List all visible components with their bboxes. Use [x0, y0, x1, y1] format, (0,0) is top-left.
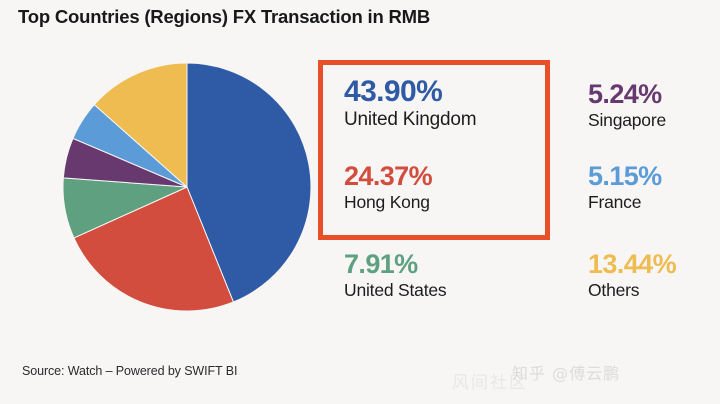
stat-united-kingdom-label: United Kingdom — [344, 109, 476, 131]
chart-page: Top Countries (Regions) FX Transaction i… — [0, 0, 720, 404]
stat-united-states: 7.91% United States — [344, 250, 446, 300]
stat-singapore-value: 5.24% — [588, 80, 666, 108]
pie-slice-group — [63, 63, 311, 311]
stat-others-label: Others — [588, 280, 676, 300]
stat-others: 13.44% Others — [588, 250, 676, 300]
watermark-site: 风间社区 — [452, 368, 528, 393]
stat-singapore: 5.24% Singapore — [588, 80, 666, 130]
stat-united-kingdom-value: 43.90% — [344, 76, 476, 107]
watermark-author: 知乎 @傅云鹏 — [512, 360, 620, 384]
stat-united-states-label: United States — [344, 280, 446, 300]
stat-france-value: 5.15% — [588, 162, 662, 190]
source-note: Source: Watch – Powered by SWIFT BI — [22, 364, 237, 378]
stat-hong-kong-label: Hong Kong — [344, 192, 432, 212]
stat-hong-kong: 24.37% Hong Kong — [344, 162, 432, 212]
stat-united-kingdom: 43.90% United Kingdom — [344, 76, 476, 131]
stat-france-label: France — [588, 192, 662, 212]
page-title: Top Countries (Regions) FX Transaction i… — [18, 6, 430, 28]
pie-chart-svg — [62, 62, 312, 312]
stat-others-value: 13.44% — [588, 250, 676, 278]
pie-chart — [62, 62, 312, 312]
stat-united-states-value: 7.91% — [344, 250, 446, 278]
stat-france: 5.15% France — [588, 162, 662, 212]
stat-singapore-label: Singapore — [588, 110, 666, 130]
stat-hong-kong-value: 24.37% — [344, 162, 432, 190]
